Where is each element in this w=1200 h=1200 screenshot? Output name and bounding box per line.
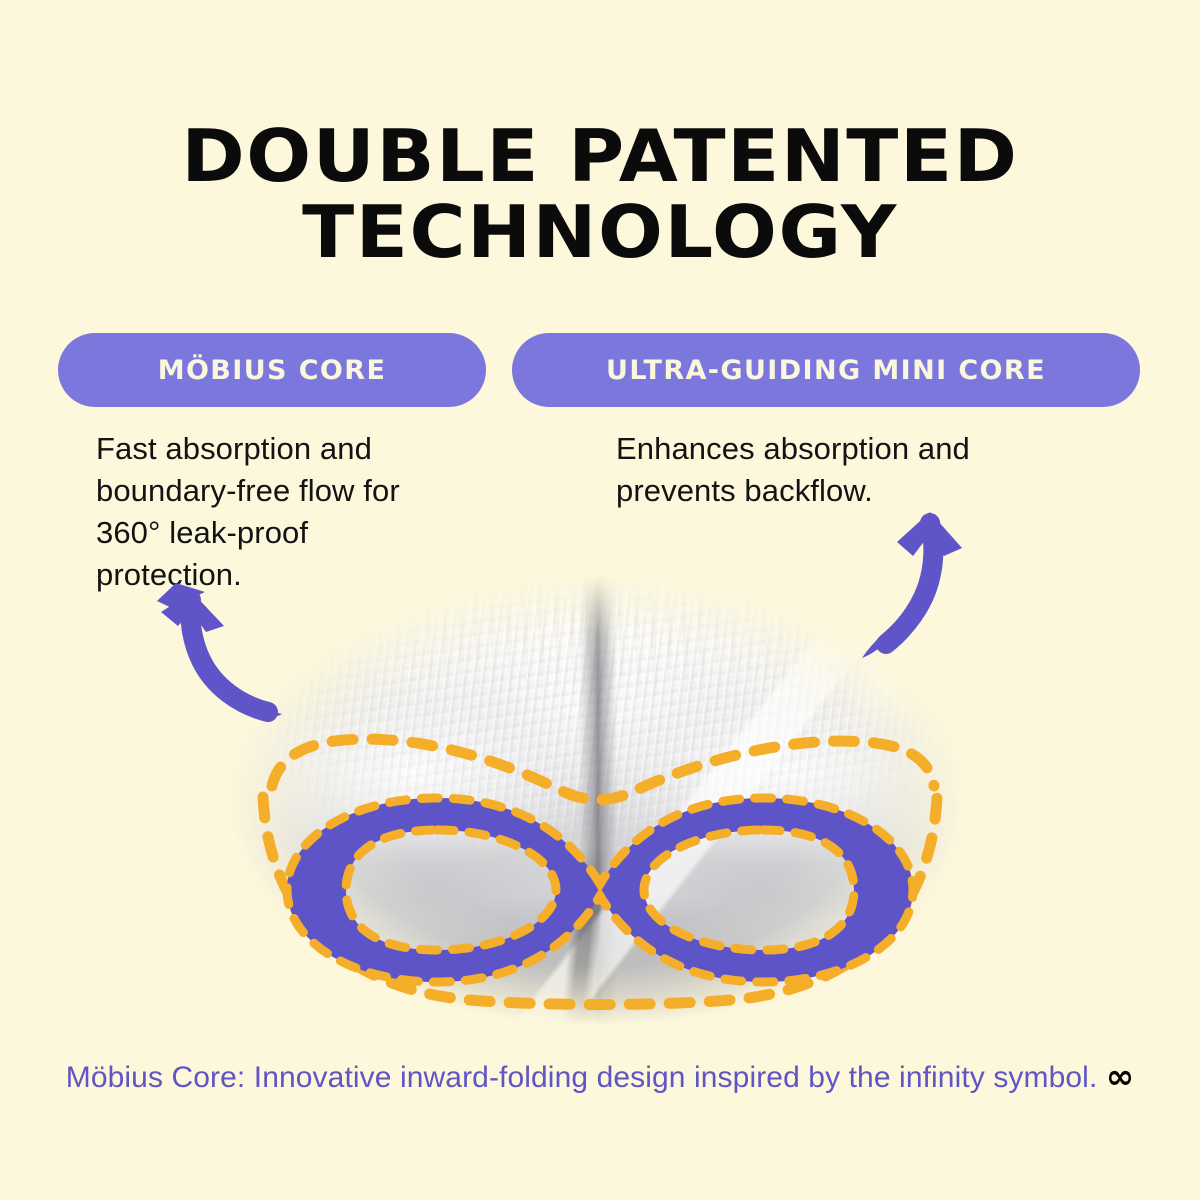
badge-ultra-guiding-mini-core-label: ULTRA-GUIDING MINI CORE bbox=[606, 355, 1046, 386]
badge-ultra-guiding-mini-core: ULTRA-GUIDING MINI CORE bbox=[512, 333, 1140, 407]
badge-mobius-core-label: MÖBIUS CORE bbox=[158, 355, 387, 386]
infographic-poster: DOUBLE PATENTED TECHNOLOGY MÖBIUS CORE U… bbox=[0, 0, 1200, 1200]
caption-text: Möbius Core: Innovative inward-folding d… bbox=[66, 1061, 1098, 1094]
caption: Möbius Core: Innovative inward-folding d… bbox=[0, 1057, 1200, 1098]
infinity-icon: ∞ bbox=[1106, 1057, 1134, 1097]
photo-bottom-seam bbox=[196, 556, 1000, 1026]
title-line-1: DOUBLE PATENTED bbox=[0, 118, 1200, 194]
absorbent-core-photo bbox=[196, 556, 1000, 1026]
feature-description-mini-core: Enhances absorption and prevents backflo… bbox=[616, 428, 1046, 512]
badge-mobius-core: MÖBIUS CORE bbox=[58, 333, 486, 407]
page-title: DOUBLE PATENTED TECHNOLOGY bbox=[0, 118, 1200, 270]
product-photo-container bbox=[196, 556, 1000, 1026]
curved-arrow-up-right-head bbox=[897, 512, 962, 556]
title-line-2: TECHNOLOGY bbox=[0, 194, 1200, 270]
